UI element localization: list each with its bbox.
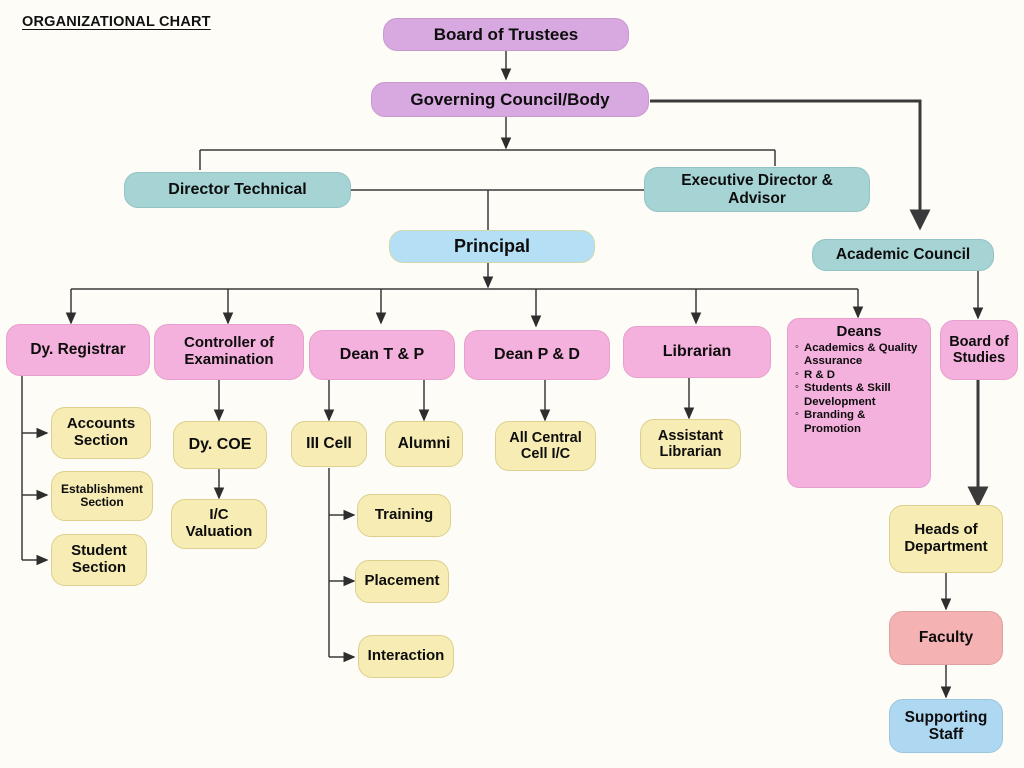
node-deans[interactable]: Deans Academics & Quality Assurance R & … [787,318,931,488]
node-principal[interactable]: Principal [389,230,595,263]
node-librarian[interactable]: Librarian [623,326,771,378]
org-chart-canvas: ORGANIZATIONAL CHART [0,0,1024,768]
node-dy-coe[interactable]: Dy. COE [173,421,267,469]
node-assistant-librarian[interactable]: Assistant Librarian [640,419,741,469]
deans-item: Branding & Promotion [795,409,923,436]
node-director-technical[interactable]: Director Technical [124,172,351,208]
node-academic-council[interactable]: Academic Council [812,239,994,271]
node-student-section[interactable]: Student Section [51,534,147,586]
node-accounts-section[interactable]: Accounts Section [51,407,151,459]
node-controller-of-examination[interactable]: Controller of Examination [154,324,304,380]
node-faculty[interactable]: Faculty [889,611,1003,665]
deans-title: Deans [795,324,923,341]
node-dy-registrar[interactable]: Dy. Registrar [6,324,150,376]
node-dean-t-p[interactable]: Dean T & P [309,330,455,380]
deans-item: Students & Skill Development [795,382,923,409]
node-all-central-cell-ic[interactable]: All Central Cell I/C [495,421,596,471]
node-alumni[interactable]: Alumni [385,421,463,467]
node-placement[interactable]: Placement [355,560,449,603]
node-board-of-trustees[interactable]: Board of Trustees [383,18,629,51]
node-interaction[interactable]: Interaction [358,635,454,678]
node-heads-of-department[interactable]: Heads of Department [889,505,1003,573]
node-training[interactable]: Training [357,494,451,537]
node-ic-valuation[interactable]: I/C Valuation [171,499,267,549]
page-title: ORGANIZATIONAL CHART [22,14,211,30]
node-board-of-studies[interactable]: Board of Studies [940,320,1018,380]
deans-item: R & D [795,369,923,382]
node-executive-director-advisor[interactable]: Executive Director & Advisor [644,167,870,212]
node-dean-p-d[interactable]: Dean P & D [464,330,610,380]
node-establishment-section[interactable]: Establishment Section [51,471,153,521]
node-supporting-staff[interactable]: Supporting Staff [889,699,1003,753]
node-governing-council[interactable]: Governing Council/Body [371,82,649,117]
node-iii-cell[interactable]: III Cell [291,421,367,467]
deans-item: Academics & Quality Assurance [795,342,923,369]
deans-list: Academics & Quality Assurance R & D Stud… [795,342,923,436]
